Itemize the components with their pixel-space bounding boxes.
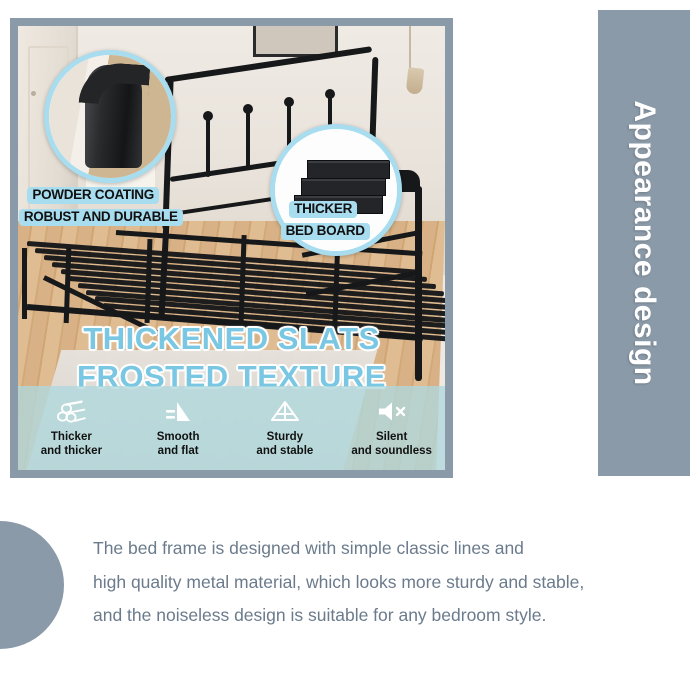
feature-smooth-line2: and flat	[158, 445, 199, 457]
appearance-design-banner-label: Appearance design	[627, 100, 661, 385]
feature-smooth: Smooth and flat	[125, 397, 232, 458]
headline-line-1: THICKENED SLATS	[18, 321, 445, 357]
flat-ramp-icon	[125, 397, 232, 427]
stacked-pipes-icon	[18, 397, 125, 427]
appearance-design-banner: Appearance design	[598, 10, 690, 476]
product-photo: POWDER COATING ROBUST AND DURABLE THICKE…	[18, 26, 445, 470]
feature-thicker-line1: Thicker	[51, 431, 92, 443]
feature-thicker-line2: and thicker	[41, 445, 102, 457]
decorative-semicircle	[0, 521, 64, 649]
feature-thicker: Thicker and thicker	[18, 397, 125, 458]
steel-board-mid	[301, 178, 387, 196]
steel-board-top	[307, 160, 390, 178]
description-line-2: high quality metal material, which looks…	[93, 566, 673, 600]
description-line-1: The bed frame is designed with simple cl…	[93, 532, 673, 566]
feature-silent: Silent and soundless	[338, 397, 445, 458]
callout-powder-coating-label-1: POWDER COATING	[27, 187, 159, 204]
feature-sturdy-line1: Sturdy	[267, 431, 303, 443]
feature-sturdy: Sturdy and stable	[232, 397, 339, 458]
product-photo-frame: POWDER COATING ROBUST AND DURABLE THICKE…	[10, 18, 453, 478]
callout-powder-coating-lens	[44, 50, 176, 182]
callout-bed-board-label-1: THICKER	[289, 201, 357, 218]
callout-powder-coating-label-2: ROBUST AND DURABLE	[19, 209, 183, 226]
product-feature-card: POWDER COATING ROBUST AND DURABLE THICKE…	[0, 0, 700, 700]
callout-bed-board-label-2: BED BOARD	[281, 223, 370, 240]
description-text: The bed frame is designed with simple cl…	[93, 532, 673, 633]
feature-silent-line1: Silent	[376, 431, 407, 443]
feature-smooth-line1: Smooth	[157, 431, 200, 443]
feature-silent-line2: and soundless	[351, 445, 432, 457]
feature-sturdy-line2: and stable	[256, 445, 313, 457]
feature-band: Thicker and thicker Smooth and	[18, 386, 445, 470]
pyramid-icon	[232, 397, 339, 427]
muted-speaker-icon	[338, 397, 445, 427]
description-line-3: and the noiseless design is suitable for…	[93, 599, 673, 633]
